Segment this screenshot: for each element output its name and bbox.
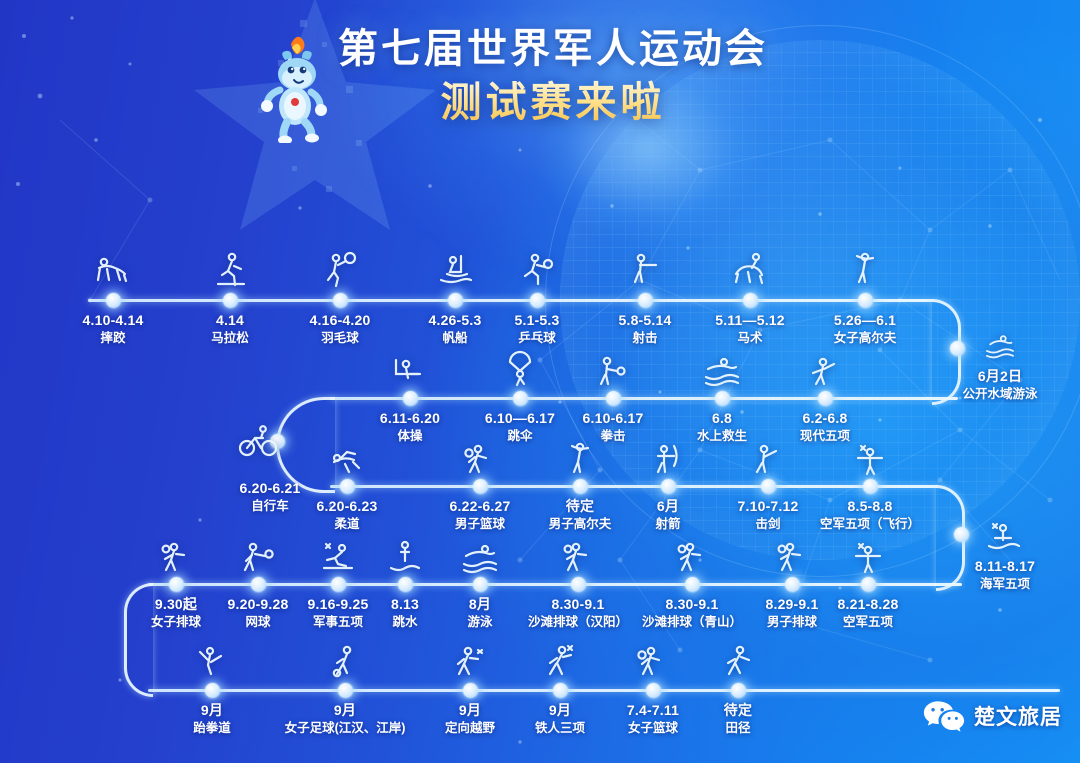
timeline-node (818, 391, 833, 406)
timeline-entry[interactable]: 待定 田径 (663, 702, 813, 736)
marathon-icon (208, 248, 252, 292)
volleyball-icon (154, 536, 198, 580)
shooting-icon (623, 248, 667, 292)
timeline-node (743, 293, 758, 308)
taekwondo-icon (190, 640, 234, 684)
watermark-label: 楚文旅居 (974, 701, 1062, 731)
orienteering-icon (448, 640, 492, 684)
timeline-node (473, 577, 488, 592)
timeline-node (473, 479, 488, 494)
entry-date: 8.11-8.17 (930, 558, 1080, 574)
timeline-node-turn (954, 527, 969, 542)
fencing-icon (746, 438, 790, 482)
entry-sport: 柔道 (272, 517, 422, 532)
timeline-node (403, 391, 418, 406)
timeline-node (169, 577, 184, 592)
lifesaving-icon (700, 350, 744, 394)
entry-date: 6月2日 (925, 368, 1075, 384)
timeline-node-turn (950, 341, 965, 356)
timeline-node (205, 683, 220, 698)
timeline-node (513, 391, 528, 406)
timeline-node (785, 577, 800, 592)
boxing-icon (591, 350, 635, 394)
timeline-node (685, 577, 700, 592)
entry-date: 6.20-6.23 (272, 498, 422, 514)
timeline-entry[interactable]: 6.20-6.23 柔道 (272, 498, 422, 532)
swimming-icon (458, 536, 502, 580)
timeline-node (661, 479, 676, 494)
modern-pentathlon-icon (803, 350, 847, 394)
timeline-node (106, 293, 121, 308)
timeline-node (448, 293, 463, 308)
watermark: 楚文旅居 (923, 699, 1062, 733)
timeline-node (858, 293, 873, 308)
football-icon (323, 640, 367, 684)
timeline-node (553, 683, 568, 698)
volleyball-icon (770, 536, 814, 580)
timeline-entry[interactable]: 5.26—6.1 女子高尔夫 (790, 312, 940, 346)
entry-sport: 海军五项 (930, 577, 1080, 592)
entry-date: 8.5-8.8 (770, 498, 970, 514)
tabletennis-icon (515, 248, 559, 292)
archery-icon (646, 438, 690, 482)
cycling-icon (236, 418, 280, 462)
airforce-pentathlon-icon (848, 438, 892, 482)
navy-pentathlon-icon (981, 516, 1025, 560)
athletics-icon (716, 640, 760, 684)
beach-volleyball-icon (556, 536, 600, 580)
entry-date: 5.26—6.1 (790, 312, 940, 328)
openwater-swim-icon (982, 328, 1018, 364)
sailing-icon (433, 248, 477, 292)
timeline-node (338, 683, 353, 698)
timeline-node (863, 479, 878, 494)
military-pentathlon-icon (316, 536, 360, 580)
timeline-node (340, 479, 355, 494)
timeline-node (530, 293, 545, 308)
timeline-entry-turn[interactable]: 8.11-8.17 海军五项 (930, 558, 1080, 592)
timeline-node (606, 391, 621, 406)
judo-icon (325, 438, 369, 482)
golf-icon (558, 438, 602, 482)
equestrian-icon (728, 248, 772, 292)
timeline-node (223, 293, 238, 308)
timeline-entry[interactable]: 8.21-8.28 空军五项 (793, 596, 943, 630)
timeline-node (331, 577, 346, 592)
entry-sport: 空军五项（飞行） (770, 517, 970, 532)
entry-date: 6.2-6.8 (750, 410, 900, 426)
entry-sport: 田径 (663, 721, 813, 736)
diving-icon (383, 536, 427, 580)
timeline-track-row-4 (148, 583, 962, 586)
wrestling-icon (91, 248, 135, 292)
entry-date: 8.21-8.28 (793, 596, 943, 612)
triathlon-icon (538, 640, 582, 684)
basketball-icon (458, 438, 502, 482)
basketball-icon (631, 640, 675, 684)
golf-icon (843, 248, 887, 292)
timeline-node (463, 683, 478, 698)
timeline-node (861, 577, 876, 592)
entry-sport: 空军五项 (793, 615, 943, 630)
timeline-track-row-2 (330, 397, 958, 400)
timeline-node (646, 683, 661, 698)
timeline: 4.10-4.14 摔跤 4.14 马拉松 4.16-4.20 羽毛球 (0, 0, 1080, 763)
entry-date: 待定 (663, 702, 813, 718)
airforce-pentathlon-icon (846, 536, 890, 580)
timeline-node (573, 479, 588, 494)
timeline-node (333, 293, 348, 308)
timeline-entry[interactable]: 8.5-8.8 空军五项（飞行） (770, 498, 970, 532)
timeline-track-row-1 (88, 299, 933, 302)
entry-date: 6.20-6.21 (195, 480, 345, 496)
wechat-icon (923, 699, 965, 733)
timeline-node (571, 577, 586, 592)
timeline-node (761, 479, 776, 494)
entry-sport: 女子高尔夫 (790, 331, 940, 346)
tennis-icon (236, 536, 280, 580)
beach-volleyball-icon (670, 536, 714, 580)
timeline-node (251, 577, 266, 592)
timeline-node (638, 293, 653, 308)
badminton-icon (318, 248, 362, 292)
timeline-track-row-5 (148, 689, 1060, 692)
parachute-icon (498, 350, 542, 394)
timeline-entry-turn[interactable]: 6月2日 公开水域游泳 (925, 368, 1075, 402)
entry-sport: 公开水域游泳 (925, 387, 1075, 402)
timeline-track-row-3 (330, 485, 938, 488)
gymnastics-icon (388, 350, 432, 394)
infographic-canvas: 第七届世界军人运动会 测试赛来啦 4.10-4.14 摔跤 (0, 0, 1080, 763)
timeline-node (715, 391, 730, 406)
timeline-node (398, 577, 413, 592)
timeline-node (731, 683, 746, 698)
